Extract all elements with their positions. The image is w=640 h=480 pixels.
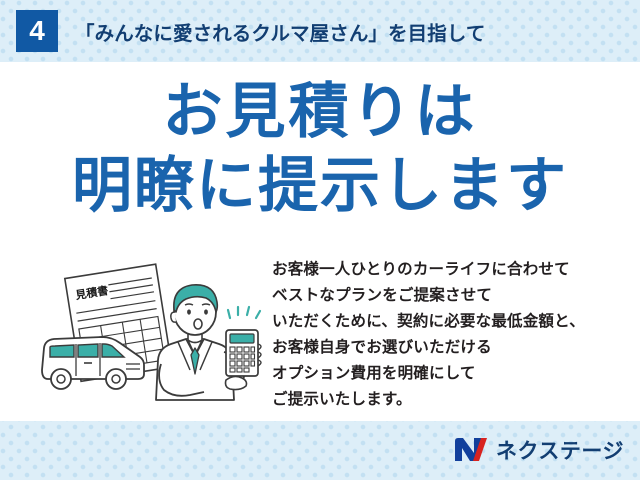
body-copy: お客様一人ひとりのカーライフに合わせて ベストなプランをご提案させて いただくた…	[272, 257, 622, 413]
body-copy-line-3: いただくために、契約に必要な最低金額と、	[272, 309, 622, 335]
body-copy-line-5: オプション費用を明確にして	[272, 361, 622, 387]
nextage-logo: ネクステージ	[454, 434, 624, 466]
body-copy-line-4: お客様自身でお選びいただける	[272, 335, 622, 361]
footer-bar: ネクステージ	[0, 421, 640, 480]
nextage-logo-mark	[454, 437, 488, 463]
header-title: 「みんなに愛されるクルマ屋さん」を目指して	[75, 17, 485, 46]
headline: お見積りは 明瞭に提示します	[0, 82, 640, 216]
section-number-badge: 4	[16, 10, 58, 52]
body-copy-line-2: ベストなプランをご提案させて	[272, 283, 622, 309]
header-bar: 4 「みんなに愛されるクルマ屋さん」を目指して	[0, 0, 640, 62]
content-panel: お見積りは 明瞭に提示します お客様一人ひとりのカーライフに合わせて ベストなプ…	[0, 62, 640, 421]
headline-line-2: 明瞭に提示します	[0, 156, 640, 216]
body-copy-line-6: ご提示いたします。	[272, 387, 622, 413]
calculator-icon	[226, 330, 261, 376]
body-copy-line-1: お客様一人ひとりのカーライフに合わせて	[272, 257, 622, 283]
nextage-brand-name: ネクステージ	[496, 435, 624, 465]
illustration-salesman-estimate: 見積書	[28, 252, 276, 412]
headline-line-1: お見積りは	[0, 82, 640, 142]
sparkle-icon	[228, 307, 260, 318]
advertisement-banner: 4 「みんなに愛されるクルマ屋さん」を目指して お見積りは 明瞭に提示します お…	[0, 0, 640, 480]
